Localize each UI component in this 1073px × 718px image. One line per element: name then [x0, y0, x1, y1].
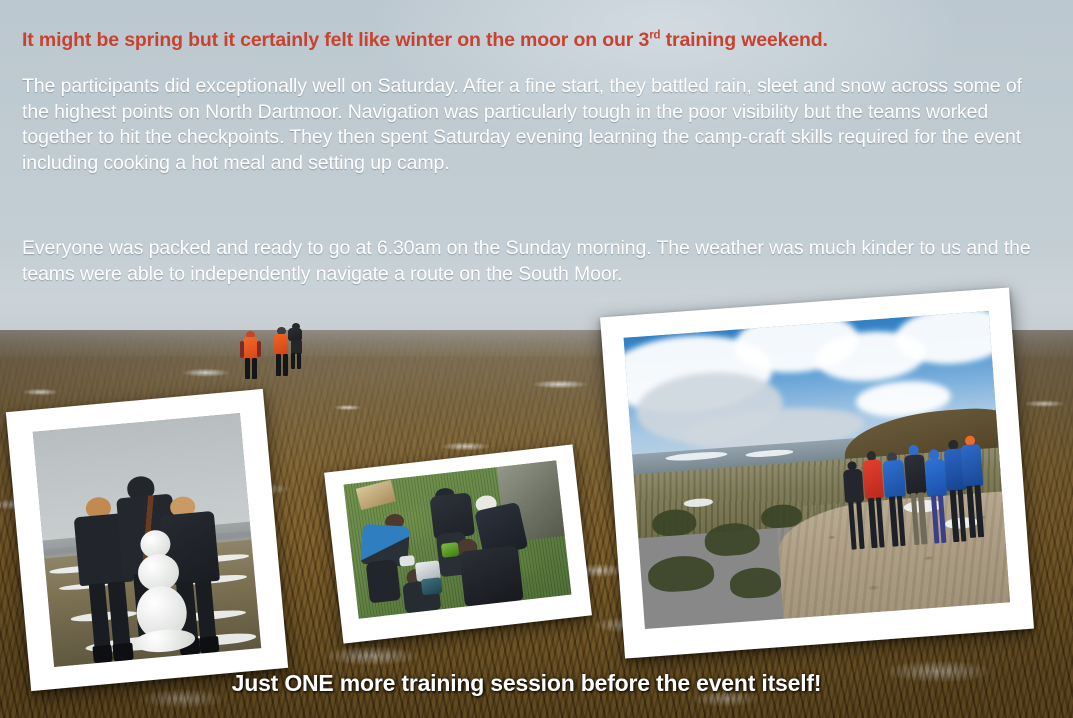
- snowman: [127, 527, 192, 654]
- slide-canvas: It might be spring but it certainly felt…: [0, 0, 1073, 718]
- boy-boot: [199, 636, 220, 653]
- participant-legs: [938, 495, 947, 543]
- paragraph-sunday: Everyone was packed and ready to go at 6…: [22, 236, 1042, 287]
- participant-legs: [974, 485, 983, 537]
- closing-caption: Just ONE more training session before th…: [0, 670, 1073, 697]
- hiker-figure: [286, 323, 308, 369]
- snowman-image: [33, 413, 262, 667]
- hiker-arm: [240, 341, 244, 358]
- hiker-arm: [257, 341, 261, 357]
- participant-legs: [918, 492, 927, 544]
- hiker-legs: [276, 354, 281, 376]
- headline-text-after: training weekend.: [660, 29, 827, 51]
- boy-boot: [92, 645, 113, 663]
- group-on-track-photo[interactable]: [600, 287, 1034, 658]
- heather-scrub: [647, 554, 715, 594]
- participant-jacket: [459, 545, 524, 607]
- hiker-legs: [245, 358, 250, 379]
- participant-jacket: [862, 459, 884, 499]
- boy-legs: [195, 580, 217, 641]
- participant-jacket: [960, 444, 983, 487]
- headline-ordinal-suffix: rd: [649, 30, 660, 42]
- snowman-photo[interactable]: [6, 389, 288, 691]
- camp-craft-image: [344, 460, 572, 618]
- hiker-legs: [297, 353, 301, 369]
- participant-jacket: [843, 469, 864, 504]
- headline-text-before: It might be spring but it certainly felt…: [22, 29, 649, 51]
- hiker-figure: [240, 331, 262, 379]
- hiker-legs: [291, 340, 302, 354]
- heather-scrub: [729, 566, 782, 599]
- camp-craft-photo[interactable]: [324, 444, 592, 643]
- participant-legs: [897, 496, 906, 546]
- boy-legs: [89, 583, 111, 650]
- participant-legs: [876, 497, 885, 547]
- camping-stove: [421, 577, 442, 595]
- hiker-rucksack: [243, 337, 258, 359]
- participant-kneeling: [449, 533, 525, 608]
- participant-jacket: [882, 459, 906, 498]
- paragraph-saturday: The participants did exceptionally well …: [22, 74, 1042, 176]
- camping-gas-canister: [441, 542, 460, 557]
- hiker-legs: [252, 358, 257, 379]
- participant-trousers: [365, 559, 400, 604]
- camping-mug: [399, 555, 415, 566]
- hiker-legs: [291, 353, 295, 369]
- group-on-track-image: [624, 311, 1010, 629]
- page-title: It might be spring but it certainly felt…: [22, 28, 1052, 52]
- participant-legs: [856, 501, 865, 549]
